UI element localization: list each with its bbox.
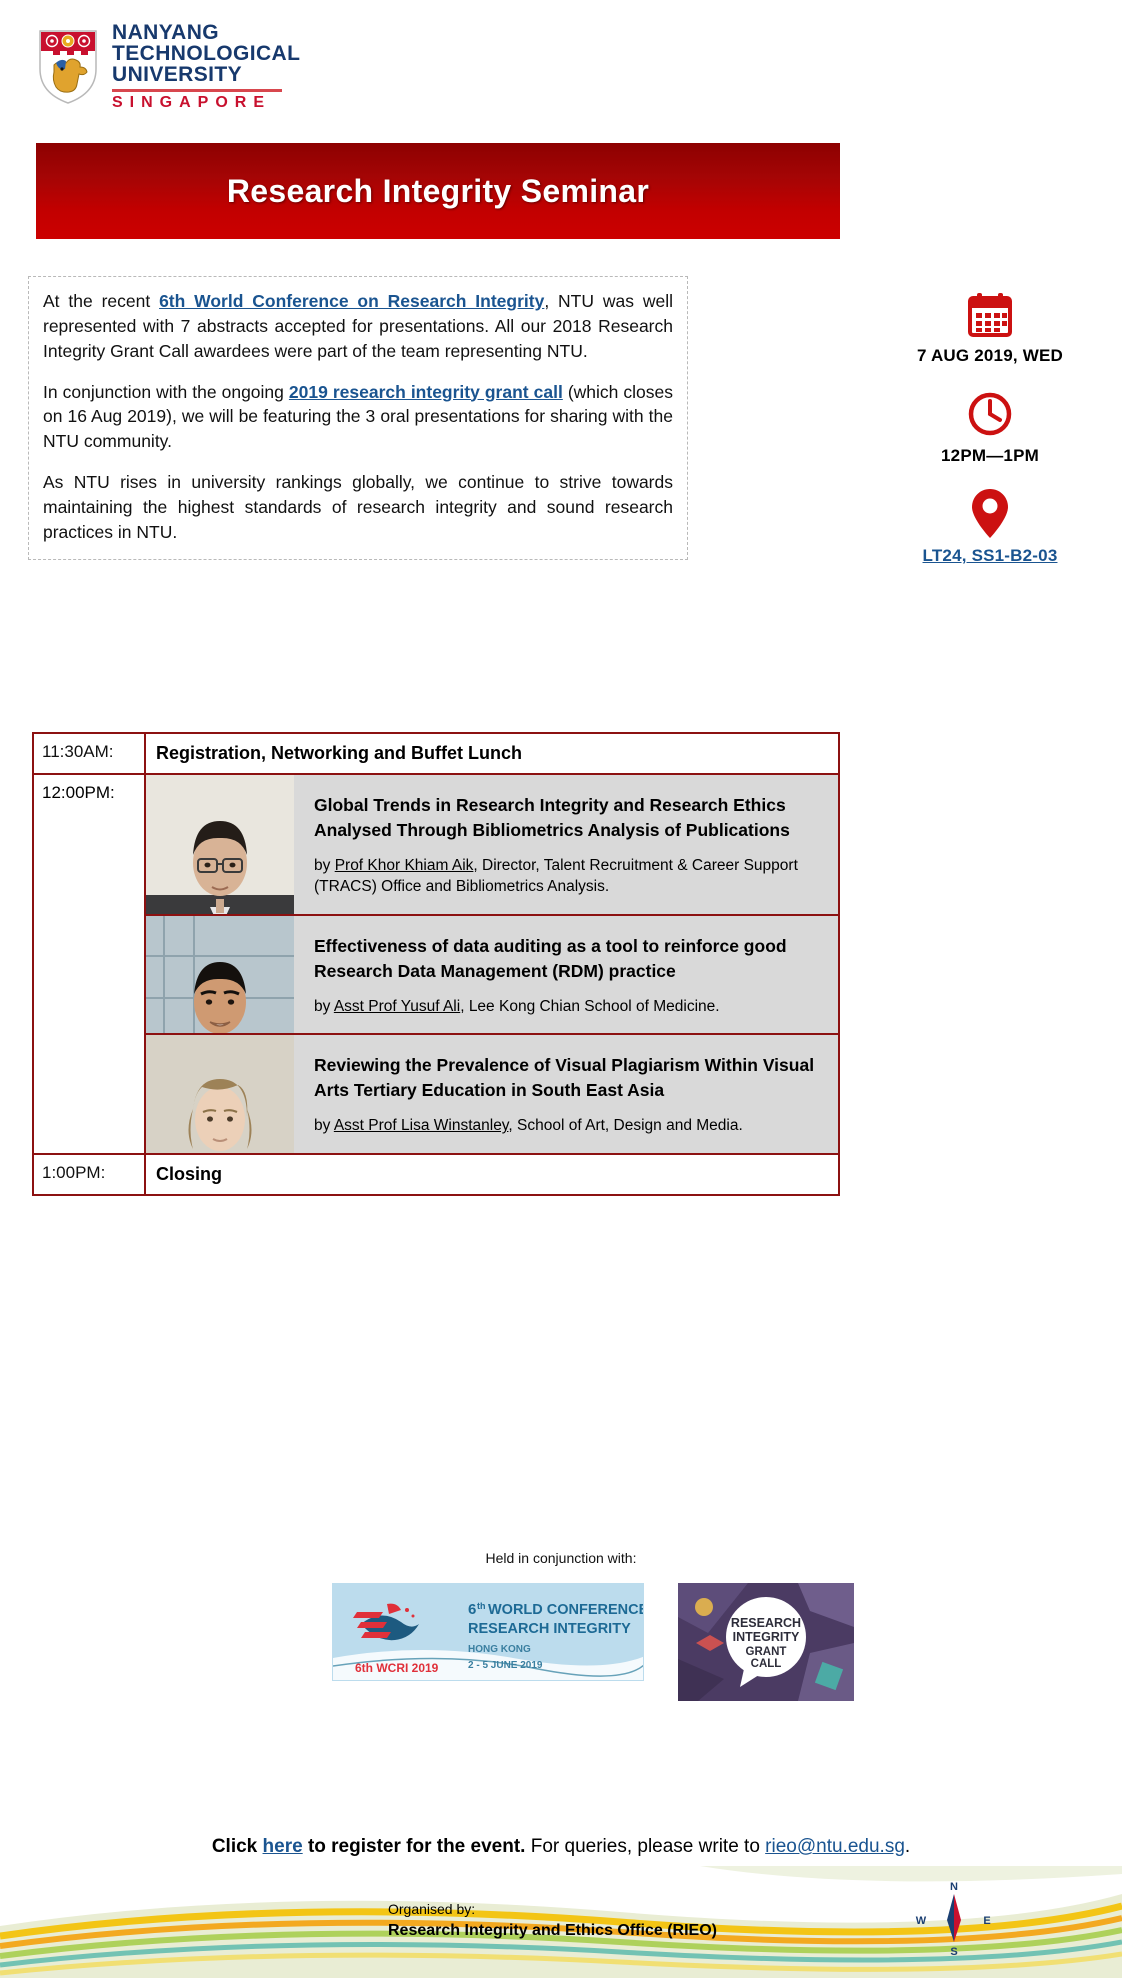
calendar-icon — [880, 286, 1100, 342]
wcri-logo: 6 th WORLD CONFERENCE ON RESEARCH INTEGR… — [332, 1583, 644, 1681]
intro-paragraph-1: At the recent 6th World Conference on Re… — [43, 289, 673, 364]
spacer — [880, 472, 1100, 486]
logo-line-2: TECHNOLOGICAL — [112, 43, 300, 64]
grant-call-link[interactable]: 2019 research integrity grant call — [289, 382, 563, 402]
speaker-affiliation: , Lee Kong Chian School of Medicine. — [460, 998, 719, 1015]
held-in-conjunction: Held in conjunction with: — [0, 1550, 1122, 1568]
intro-paragraph-2: In conjunction with the ongoing 2019 res… — [43, 380, 673, 455]
list-item: Effectiveness of data auditing as a tool… — [146, 916, 838, 1035]
held-caption: Held in conjunction with: — [486, 1550, 637, 1566]
intro-section: At the recent 6th World Conference on Re… — [28, 276, 688, 560]
table-row: 11:30AM: Registration, Networking and Bu… — [34, 734, 838, 775]
schedule-time: 12:00PM: — [34, 775, 144, 811]
talk-content: Global Trends in Research Integrity and … — [294, 775, 838, 914]
logo-line-4: SINGAPORE — [112, 95, 300, 111]
partner-logos: 6 th WORLD CONFERENCE ON RESEARCH INTEGR… — [332, 1583, 854, 1701]
email-link[interactable]: rieo@ntu.edu.sg — [765, 1836, 905, 1857]
intro-paragraph-3: As NTU rises in university rankings glob… — [43, 470, 673, 545]
schedule-title: Closing — [146, 1155, 838, 1194]
event-date-block: 7 AUG 2019, WED — [880, 286, 1100, 366]
talk-title: Global Trends in Research Integrity and … — [314, 793, 818, 843]
speaker-affiliation: , School of Art, Design and Media. — [508, 1117, 742, 1134]
talk-speaker-line: by Prof Khor Khiam Aik, Director, Talent… — [314, 855, 818, 898]
svg-text:RESEARCH: RESEARCH — [731, 1616, 801, 1630]
svg-text:6: 6 — [468, 1601, 476, 1618]
event-venue-block: LT24, SS1-B2-03 — [880, 486, 1100, 566]
page-title: Research Integrity Seminar — [227, 173, 649, 210]
click-text: Click — [212, 1836, 263, 1857]
schedule-time: 1:00PM: — [34, 1155, 146, 1194]
event-details: 7 AUG 2019, WED 12PM—1PM LT24, SS1-B2-03 — [880, 286, 1100, 572]
by-prefix: by — [314, 998, 334, 1015]
svg-text:2 - 5 JUNE 2019: 2 - 5 JUNE 2019 — [468, 1660, 543, 1671]
logo-divider — [112, 89, 282, 92]
organiser-block: Organised by: Research Integrity and Eth… — [388, 1899, 717, 1942]
compass-icon: N S W E — [915, 1878, 993, 1958]
seminar-banner: Research Integrity Seminar — [36, 143, 840, 239]
table-row: 1:00PM: Closing — [34, 1155, 838, 1194]
portrait-lisa-winstanley — [146, 1035, 294, 1152]
by-prefix: by — [314, 1117, 334, 1134]
logo-line-1: NANYANG — [112, 22, 300, 43]
svg-text:WORLD CONFERENCE ON: WORLD CONFERENCE ON — [488, 1602, 644, 1618]
portrait-khor-khiam-aik — [146, 775, 294, 914]
talk-speaker-line: by Asst Prof Yusuf Ali, Lee Kong Chian S… — [314, 996, 818, 1018]
schedule-title: Registration, Networking and Buffet Lunc… — [146, 734, 838, 773]
wcri-link[interactable]: 6th World Conference on Research Integri… — [159, 291, 544, 311]
register-here-link[interactable]: here — [263, 1836, 303, 1857]
talks-list: Global Trends in Research Integrity and … — [146, 775, 838, 1153]
event-time-block: 12PM—1PM — [880, 386, 1100, 466]
intro-p1-prefix: At the recent — [43, 291, 159, 311]
svg-text:6th WCRI 2019: 6th WCRI 2019 — [355, 1661, 439, 1675]
list-item: Global Trends in Research Integrity and … — [146, 775, 838, 916]
speaker-name[interactable]: Asst Prof Lisa Winstanley — [334, 1117, 509, 1134]
event-time: 12PM—1PM — [880, 446, 1100, 466]
organiser-name: Research Integrity and Ethics Office (RI… — [388, 1919, 717, 1942]
svg-text:HONG KONG: HONG KONG — [468, 1644, 531, 1655]
list-item: Reviewing the Prevalence of Visual Plagi… — [146, 1035, 838, 1152]
portrait-yusuf-ali — [146, 916, 294, 1033]
svg-text:INTEGRITY: INTEGRITY — [733, 1630, 800, 1644]
compass-n: N — [950, 1881, 958, 1893]
event-date: 7 AUG 2019, WED — [880, 346, 1100, 366]
table-row-sessions: 12:00PM: — [34, 775, 838, 1155]
ntu-logo-wordmark: NANYANG TECHNOLOGICAL UNIVERSITY SINGAPO… — [112, 22, 300, 111]
footer-ribbon: Organised by: Research Integrity and Eth… — [0, 1866, 1122, 1978]
talk-title: Reviewing the Prevalence of Visual Plagi… — [314, 1053, 818, 1103]
svg-text:CALL: CALL — [751, 1658, 782, 1670]
svg-text:GRANT: GRANT — [746, 1646, 787, 1658]
intro-box: At the recent 6th World Conference on Re… — [28, 276, 688, 560]
by-prefix: by — [314, 857, 335, 874]
schedule-table: 11:30AM: Registration, Networking and Bu… — [32, 732, 840, 1196]
compass-s: S — [950, 1946, 957, 1958]
register-line: Click here to register for the event. Fo… — [0, 1836, 1122, 1858]
speaker-name[interactable]: Asst Prof Yusuf Ali — [334, 998, 460, 1015]
speaker-name[interactable]: Prof Khor Khiam Aik — [335, 857, 474, 874]
compass-e: E — [983, 1915, 990, 1927]
location-pin-icon — [880, 486, 1100, 542]
schedule-time: 11:30AM: — [34, 734, 146, 773]
intro-p2-prefix: In conjunction with the ongoing — [43, 382, 289, 402]
ntu-crest-icon — [38, 29, 98, 105]
ntu-logo: NANYANG TECHNOLOGICAL UNIVERSITY SINGAPO… — [38, 22, 300, 111]
queries-text: For queries, please write to — [525, 1836, 765, 1857]
talk-content: Reviewing the Prevalence of Visual Plagi… — [294, 1035, 838, 1152]
register-bold: Click here to register for the event. — [212, 1836, 526, 1857]
talk-title: Effectiveness of data auditing as a tool… — [314, 934, 818, 984]
talk-speaker-line: by Asst Prof Lisa Winstanley, School of … — [314, 1115, 818, 1137]
svg-text:th: th — [477, 1601, 486, 1611]
svg-text:RESEARCH INTEGRITY: RESEARCH INTEGRITY — [468, 1621, 631, 1637]
logo-line-3: UNIVERSITY — [112, 64, 300, 85]
organised-by-label: Organised by: — [388, 1899, 717, 1919]
schedule-time-cell: 12:00PM: — [34, 775, 146, 1153]
research-integrity-grant-call-logo: RESEARCH INTEGRITY GRANT CALL — [678, 1583, 854, 1701]
talk-content: Effectiveness of data auditing as a tool… — [294, 916, 838, 1033]
period: . — [905, 1836, 910, 1857]
compass-w: W — [916, 1915, 927, 1927]
clock-icon — [880, 386, 1100, 442]
event-venue[interactable]: LT24, SS1-B2-03 — [880, 546, 1100, 566]
register-tail: to register for the event. — [303, 1836, 526, 1857]
spacer — [880, 372, 1100, 386]
